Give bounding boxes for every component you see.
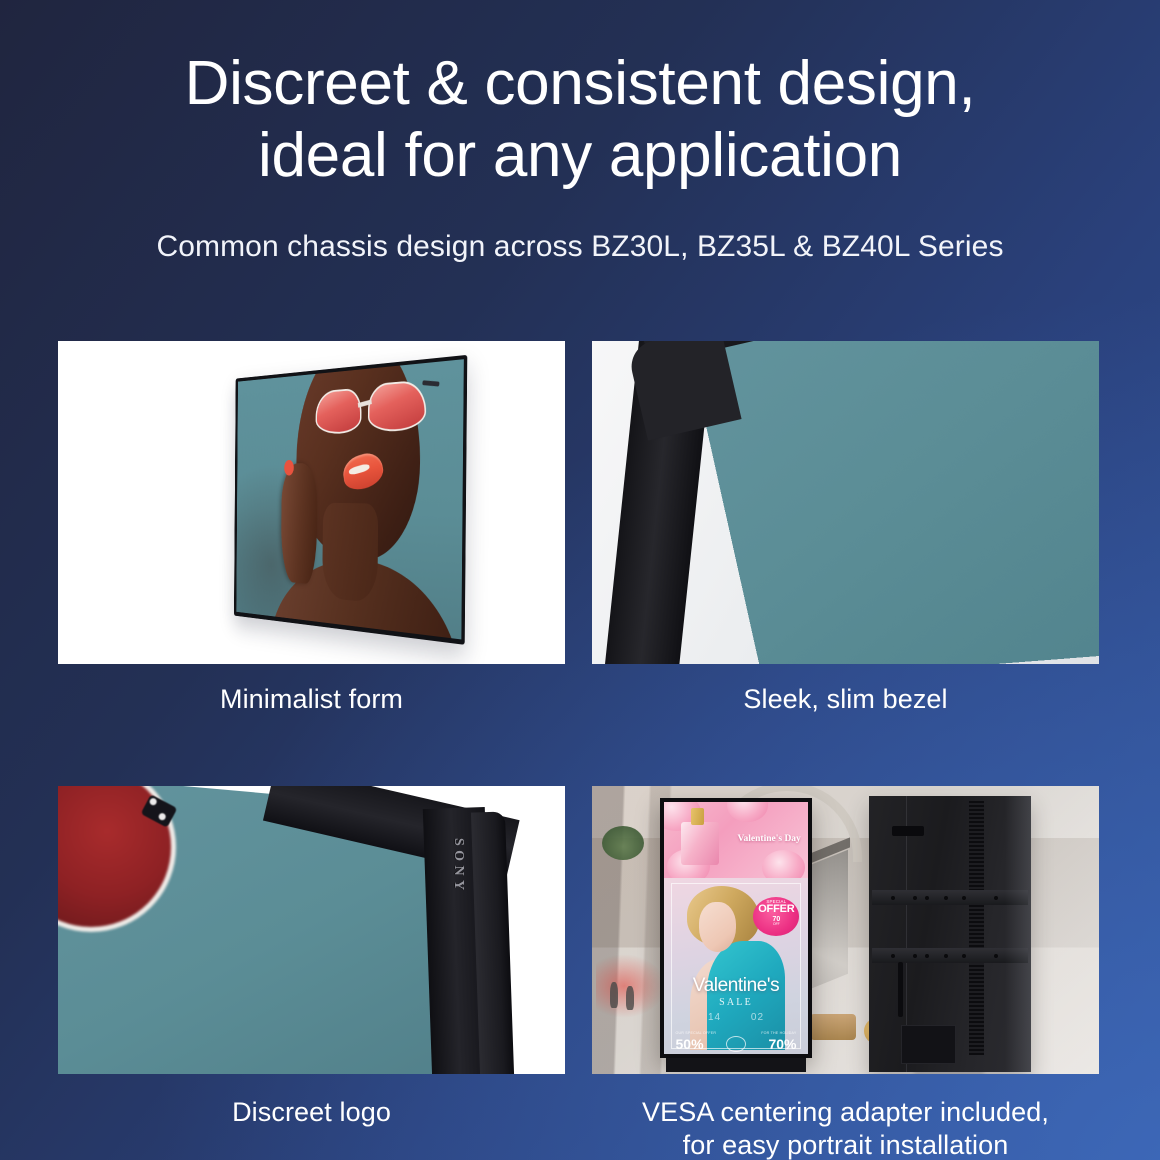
vesa-screw-hole: [994, 896, 998, 900]
image-discreet-logo: SONY: [58, 786, 565, 1074]
feature-grid: Minimalist form Sleek, slim bezel: [58, 341, 1102, 1160]
ad-header-text: Valentine's Day: [738, 834, 801, 844]
vesa-screw-hole: [962, 954, 966, 958]
header: Discreet & consistent design, ideal for …: [0, 48, 1160, 264]
ad-date-day: 14: [708, 1012, 721, 1023]
feature-cell-slim-bezel: Sleek, slim bezel: [592, 341, 1099, 716]
caption-vesa-line-2: for easy portrait installation: [683, 1130, 1009, 1160]
display-screen: [236, 359, 464, 639]
shopper-silhouette: [626, 986, 634, 1010]
vesa-screw-hole: [891, 954, 895, 958]
feature-cell-minimalist-form: Minimalist form: [58, 341, 565, 716]
sunglasses-icon: [315, 379, 434, 441]
rear-port: [892, 826, 924, 835]
feature-row-2: SONY Discreet logo: [58, 786, 1102, 1160]
caption-discreet-logo: Discreet logo: [58, 1074, 565, 1129]
ad-header-banner: Valentine's Day: [664, 802, 808, 878]
sunglasses-right-lens: [368, 379, 426, 432]
model-fingernail: [284, 460, 293, 476]
screen-content-fashion-photo: [236, 359, 464, 639]
bezel-closeup-screen: [684, 341, 1099, 664]
feature-cell-vesa-adapter: Valentine's Day SPECIAL OFFER: [592, 786, 1099, 1160]
rear-vent-grille: [969, 801, 984, 1055]
model-hand: [281, 463, 317, 584]
hinge-screw-1: [148, 797, 157, 806]
portrait-display-base: [666, 1058, 806, 1072]
ad-dates: 14 02: [664, 1012, 808, 1023]
badge-line-2: OFFER: [753, 904, 799, 915]
rose-decoration: [762, 850, 805, 877]
slide-root: Discreet & consistent design, ideal for …: [0, 0, 1160, 1160]
model-neck: [323, 503, 378, 603]
ad-offer-labels: OUR SPECIAL OFFER FOR THE HOLIDAY: [676, 1031, 797, 1035]
vesa-screw-hole: [944, 896, 948, 900]
display-rear-view: [869, 796, 1031, 1072]
ad-offer-left-value: 50%: [676, 1036, 704, 1052]
special-offer-badge: SPECIAL OFFER 70 OFF: [753, 897, 799, 936]
caption-vesa-adapter: VESA centering adapter included, for eas…: [592, 1074, 1099, 1160]
rear-cable-slot: [898, 962, 903, 1017]
sunglasses-left-lens: [315, 388, 361, 434]
vesa-screw-hole: [962, 896, 966, 900]
vesa-screw-hole: [913, 896, 917, 900]
vesa-screw-hole: [925, 954, 929, 958]
page-title: Discreet & consistent design, ideal for …: [90, 48, 1070, 192]
feature-row-1: Minimalist form Sleek, slim bezel: [58, 341, 1102, 716]
headline-line-1: Discreet & consistent design,: [185, 49, 976, 118]
perfume-bottle: [681, 822, 718, 866]
rose-decoration: [727, 802, 767, 822]
vesa-screw-hole: [913, 954, 917, 958]
ad-offer-right-label: FOR THE HOLIDAY: [761, 1031, 796, 1035]
vesa-screw-hole: [925, 896, 929, 900]
vesa-screw-hole: [944, 954, 948, 958]
rear-connector-bay: [901, 1025, 956, 1064]
image-vesa-adapter: Valentine's Day SPECIAL OFFER: [592, 786, 1099, 1074]
ad-subtitle: SALE: [664, 997, 808, 1008]
headline-line-2: ideal for any application: [258, 121, 902, 190]
vesa-screw-hole: [891, 896, 895, 900]
caption-minimalist-form: Minimalist form: [58, 664, 565, 716]
vesa-screw-hole: [994, 954, 998, 958]
ad-title: Valentine's: [664, 975, 808, 997]
image-minimalist-form: [58, 341, 565, 664]
hinge-screw-2: [157, 812, 166, 821]
ad-body: SPECIAL OFFER 70 OFF Valentine's SALE 14…: [664, 878, 808, 1054]
perfume-bottle-cap: [691, 808, 704, 825]
shopper-silhouette: [610, 982, 618, 1008]
rear-gloss-highlight: [1005, 796, 1031, 1072]
caption-vesa-line-1: VESA centering adapter included,: [642, 1097, 1049, 1127]
ad-offer-right-value: 70%: [768, 1036, 796, 1052]
subtitle: Common chassis design across BZ30L, BZ35…: [0, 230, 1160, 264]
portrait-display-device: Valentine's Day SPECIAL OFFER: [660, 798, 812, 1058]
feature-cell-discreet-logo: SONY Discreet logo: [58, 786, 565, 1160]
image-slim-bezel: [592, 341, 1099, 664]
sunglasses-temple: [422, 380, 439, 387]
display-device-front: [234, 355, 467, 645]
sony-logo: SONY: [438, 838, 466, 958]
mall-bench: [810, 1014, 856, 1040]
ad-date-month: 02: [751, 1012, 764, 1023]
badge-line-4: OFF: [753, 923, 799, 926]
ad-offer-left-label: OUR SPECIAL OFFER: [676, 1031, 717, 1035]
mall-plant: [602, 826, 644, 860]
portrait-display-screen: Valentine's Day SPECIAL OFFER: [664, 802, 808, 1054]
caption-slim-bezel: Sleek, slim bezel: [592, 664, 1099, 716]
